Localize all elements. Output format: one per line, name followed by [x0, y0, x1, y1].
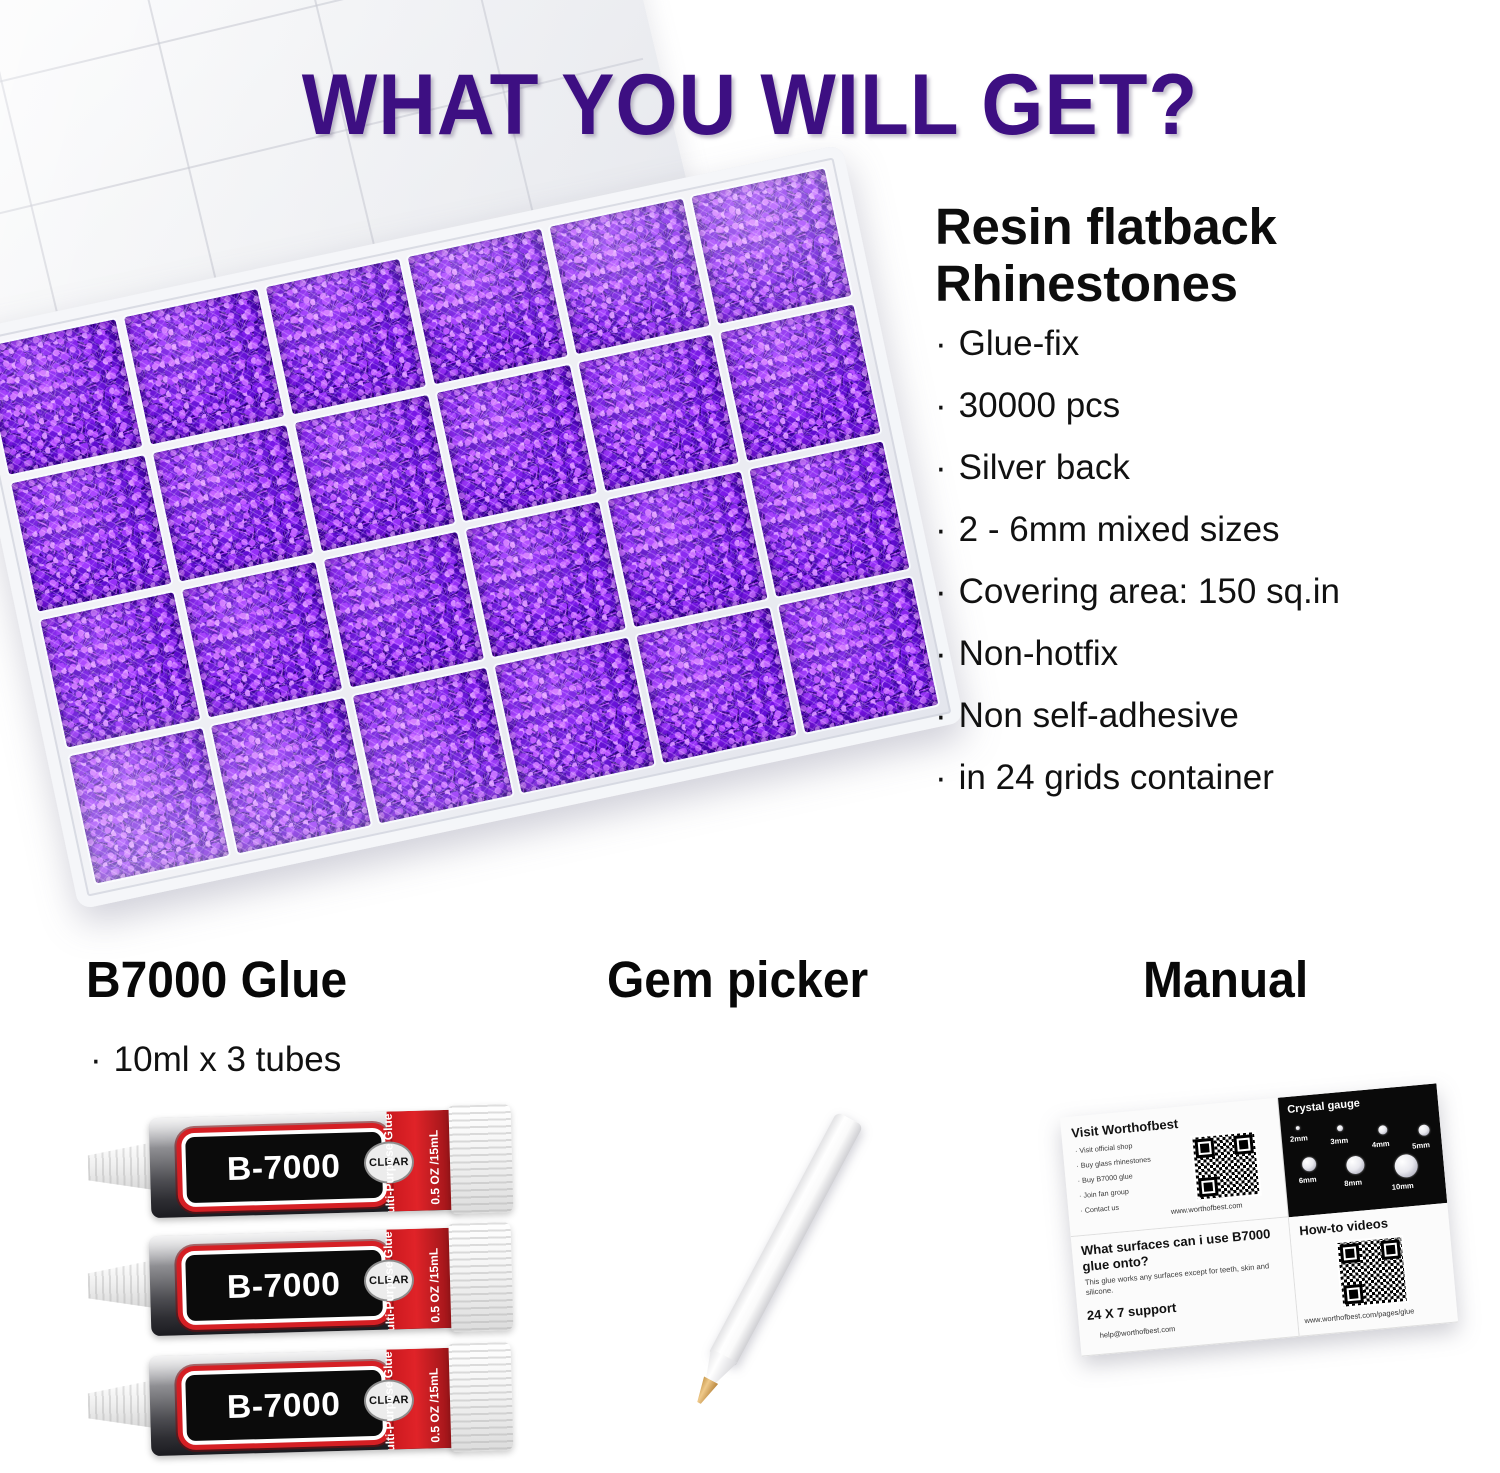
rhinestone-cell	[69, 728, 229, 884]
gauge-stone-8mm	[1346, 1155, 1366, 1175]
spec-item-label: Covering area: 150 sq.in	[959, 572, 1340, 611]
bullet-icon: ·	[90, 1040, 102, 1079]
qr-code-howto-icon	[1335, 1235, 1409, 1309]
rhinestone-cell	[579, 335, 739, 491]
rhinestone-cell	[40, 592, 200, 748]
tube-volume-text: 0.5 OZ /15mL	[427, 1368, 443, 1443]
rhinestone-cell	[182, 562, 342, 718]
manual-instruction-card: Visit Worthofbest · Visit official shop …	[1060, 1083, 1458, 1356]
manual-quadrant-surfaces: What surfaces can i use B7000 glue onto?…	[1071, 1217, 1300, 1356]
gauge-label: 4mm	[1371, 1139, 1389, 1150]
bullet-icon: ·	[935, 572, 947, 611]
glue-subtitle: ·10ml x 3 tubes	[90, 1040, 341, 1080]
manual-quadrant-visit: Visit Worthofbest · Visit official shop …	[1060, 1098, 1289, 1237]
tube-brand-text: B-7000	[227, 1385, 341, 1426]
gauge-label: 5mm	[1412, 1140, 1430, 1151]
bullet-icon: ·	[935, 386, 947, 425]
gauge-stone-6mm	[1302, 1157, 1317, 1172]
gauge-label: 10mm	[1391, 1181, 1414, 1192]
spec-item-label: Non-hotfix	[959, 634, 1119, 673]
visit-title: Visit Worthofbest	[1071, 1116, 1179, 1141]
qr-finder-icon	[1340, 1243, 1361, 1264]
spec-item: ·Non-hotfix	[935, 636, 1480, 671]
tube-brand-label: B-7000	[181, 1366, 387, 1446]
section-heading-glue: B7000 Glue	[86, 950, 347, 1009]
rhinestone-cell	[749, 441, 909, 597]
support-title: 24 X 7 support	[1086, 1300, 1177, 1323]
tube-crimped-tail	[448, 1104, 513, 1214]
bullet-icon: ·	[935, 758, 947, 797]
rhinestone-cell	[495, 637, 655, 793]
howto-url: www.worthofbest.com/pages/glue	[1304, 1306, 1414, 1325]
spec-item: ·Non self-adhesive	[935, 698, 1480, 733]
spec-item-label: Silver back	[959, 448, 1130, 487]
qr-finder-icon	[1381, 1239, 1402, 1260]
gauge-stone-10mm	[1394, 1153, 1419, 1178]
spec-item-label: Non self-adhesive	[959, 696, 1239, 735]
spec-item: ·Glue-fix	[935, 326, 1480, 361]
tube-brand-label: B-7000	[181, 1246, 387, 1326]
gauge-stone-4mm	[1378, 1125, 1388, 1135]
qr-finder-icon	[1198, 1177, 1219, 1198]
spec-heading: Resin flatback Rhinestones	[935, 198, 1480, 312]
rhinestone-cell	[324, 531, 484, 687]
visit-list-item: · Contact us	[1080, 1203, 1119, 1215]
tube-brand-text: B-7000	[227, 1147, 341, 1188]
qr-finder-icon	[1194, 1138, 1215, 1159]
pencil-shaft	[709, 1112, 863, 1366]
spec-item: ·Silver back	[935, 450, 1480, 485]
qr-code-shop-icon	[1190, 1130, 1262, 1202]
spec-item: ·in 24 grids container	[935, 760, 1480, 795]
rhinestone-cell	[778, 577, 938, 733]
rhinestone-cell	[153, 425, 313, 581]
gauge-label: 8mm	[1344, 1178, 1362, 1189]
tube-body: B-7000 CLEAR Multi-Purpose Glue 0.5 OZ /…	[149, 1348, 460, 1457]
rhinestone-spec-column: Resin flatback Rhinestones ·Glue-fix ·30…	[935, 198, 1480, 822]
tube-crimped-tail	[448, 1342, 513, 1452]
manual-quadrant-howto: How-to videos www.worthofbest.com/pages/…	[1289, 1203, 1458, 1337]
spec-item-label: 30000 pcs	[959, 386, 1121, 425]
rhinestone-cell	[607, 471, 767, 627]
tube-volume-text: 0.5 OZ /15mL	[427, 1248, 443, 1323]
tube-volume-text: 0.5 OZ /15mL	[427, 1130, 443, 1205]
rhinestone-cell	[124, 289, 284, 445]
gauge-stone-5mm	[1418, 1124, 1430, 1136]
rhinestone-cell	[550, 199, 710, 355]
gauge-label: 6mm	[1298, 1175, 1316, 1186]
rhinestone-cell	[636, 607, 796, 763]
rhinestone-cell	[353, 668, 513, 824]
tube-body: B-7000 CLEAR Multi-Purpose Glue 0.5 OZ /…	[149, 1228, 460, 1337]
spec-item-label: 2 - 6mm mixed sizes	[959, 510, 1280, 549]
tube-brand-label: B-7000	[181, 1128, 387, 1208]
glue-tube: B-7000 CLEAR Multi-Purpose Glue 0.5 OZ /…	[87, 1342, 515, 1462]
spec-item-label: Glue-fix	[959, 324, 1080, 363]
rhinestone-cell	[266, 259, 426, 415]
rhinestone-cell	[295, 395, 455, 551]
support-email: help@worthofbest.com	[1099, 1324, 1175, 1340]
spec-item-label: in 24 grids container	[959, 758, 1274, 797]
page-title: WHAT YOU WILL GET?	[53, 56, 1448, 155]
crystal-gauge-title: Crystal gauge	[1287, 1097, 1361, 1116]
visit-url: www.worthofbest.com	[1170, 1200, 1242, 1215]
rhinestone-cell	[0, 319, 142, 475]
rhinestone-cell	[408, 229, 568, 385]
section-heading-manual: Manual	[1143, 950, 1308, 1009]
tube-brand-text: B-7000	[227, 1265, 341, 1306]
rhinestone-cell	[211, 698, 371, 854]
gauge-stone-3mm	[1337, 1125, 1344, 1132]
rhinestone-cell	[11, 455, 171, 611]
glue-tube: B-7000 CLEAR Multi-Purpose Glue 0.5 OZ /…	[87, 1104, 515, 1224]
bullet-icon: ·	[935, 448, 947, 487]
glue-subtitle-label: 10ml x 3 tubes	[114, 1040, 342, 1079]
gauge-label: 3mm	[1330, 1136, 1348, 1147]
visit-list-item: · Visit official shop	[1075, 1141, 1133, 1155]
tube-crimped-tail	[448, 1222, 513, 1332]
rhinestone-cell	[720, 305, 880, 461]
rhinestone-cell	[691, 169, 851, 325]
manual-quadrant-crystal-gauge: Crystal gauge 2mm 3mm 4mm 5mm 6mm 8mm 10…	[1278, 1083, 1447, 1217]
spec-item: ·Covering area: 150 sq.in	[935, 574, 1480, 609]
howto-title: How-to videos	[1299, 1215, 1389, 1238]
bullet-icon: ·	[935, 324, 947, 363]
visit-list-item: · Join fan group	[1079, 1187, 1130, 1200]
gem-picker-pencil	[687, 1112, 864, 1409]
bullet-icon: ·	[935, 696, 947, 735]
bullet-icon: ·	[935, 510, 947, 549]
visit-list-item: · Buy B7000 glue	[1077, 1171, 1133, 1185]
rhinestone-cell	[466, 501, 626, 657]
rhinestone-cell	[437, 365, 597, 521]
section-heading-picker: Gem picker	[607, 950, 868, 1009]
tube-body: B-7000 CLEAR Multi-Purpose Glue 0.5 OZ /…	[149, 1110, 460, 1219]
visit-list-item: · Buy glass rhinestones	[1076, 1155, 1151, 1171]
spec-item: ·2 - 6mm mixed sizes	[935, 512, 1480, 547]
qr-finder-icon	[1233, 1134, 1254, 1155]
bullet-icon: ·	[935, 634, 947, 673]
spec-item: ·30000 pcs	[935, 388, 1480, 423]
gauge-label: 2mm	[1290, 1133, 1308, 1144]
gauge-stone-2mm	[1296, 1126, 1300, 1130]
glue-tube: B-7000 CLEAR Multi-Purpose Glue 0.5 OZ /…	[87, 1222, 515, 1342]
qr-finder-icon	[1344, 1284, 1365, 1305]
